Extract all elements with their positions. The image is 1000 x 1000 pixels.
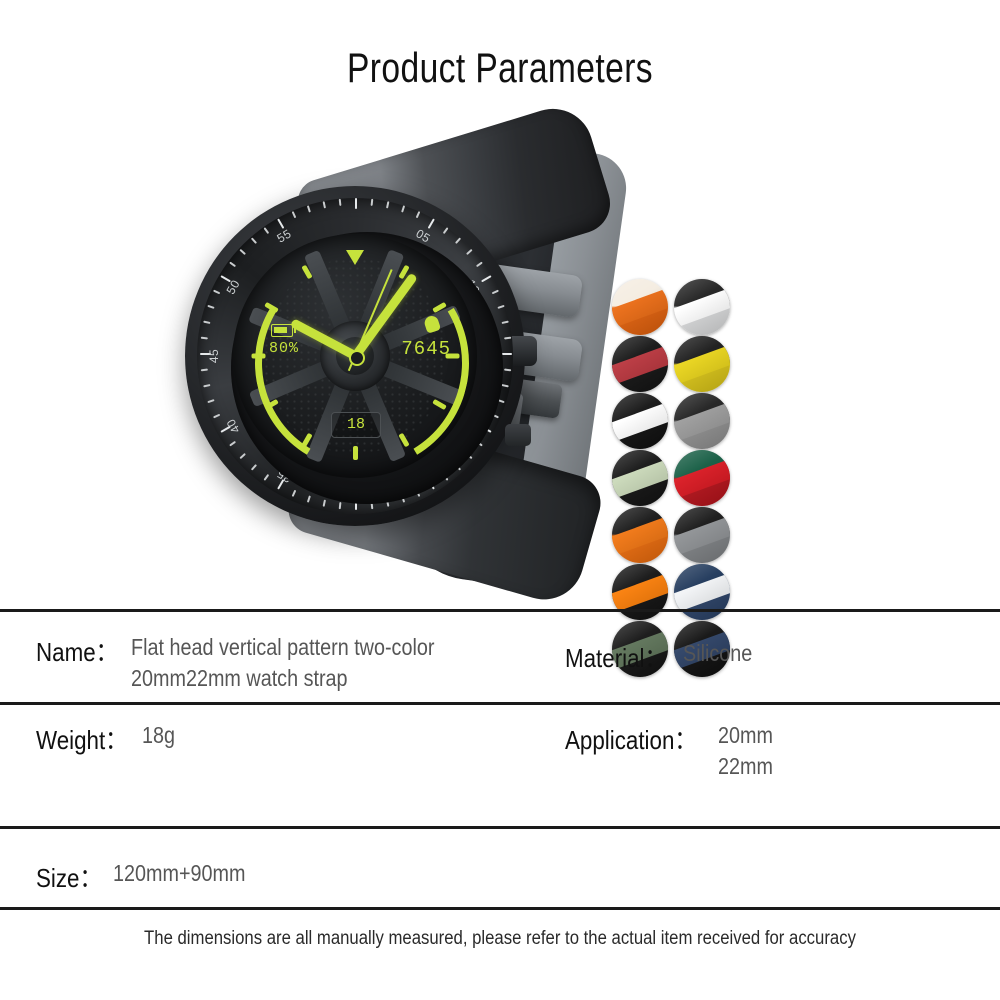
color-swatch-orange-cream[interactable] (612, 279, 668, 335)
swatch-cell[interactable] (674, 506, 736, 563)
spec-value-application-line2: 22mm (718, 751, 773, 782)
color-swatch-white-black[interactable] (674, 279, 730, 335)
spec-value-name: Flat head vertical pattern two-color 20m… (131, 632, 434, 694)
swatch-cell[interactable] (674, 392, 736, 449)
color-swatch-grey-black[interactable] (674, 393, 730, 449)
swatch-cell[interactable] (674, 335, 736, 392)
spec-row-name: Name： Flat head vertical pattern two-col… (36, 632, 484, 694)
swatch-cell[interactable] (674, 449, 736, 506)
page-title: Product Parameters (100, 44, 900, 92)
date-complication: 18 (331, 412, 381, 438)
battery-percent-text: 80% (269, 340, 299, 357)
color-swatch-grey-black-2[interactable] (674, 507, 730, 563)
spec-label-application: Application： (565, 720, 697, 757)
color-swatch-orange-black[interactable] (612, 507, 668, 563)
watch-case: 0510152025303540455055 80% 7645 (185, 186, 525, 526)
bezel-numeral: 45 (207, 349, 221, 363)
spec-row-size: Size： 120mm+90mm (36, 858, 267, 895)
spec-label-name: Name： (36, 632, 118, 669)
dial-top-marker-triangle (346, 250, 364, 265)
watch-dial: 80% 7645 18 (233, 234, 477, 478)
spec-value-name-line2: 20mm22mm watch strap (131, 663, 434, 694)
spec-value-application-line1: 20mm (718, 722, 773, 748)
spec-value-size: 120mm+90mm (113, 858, 245, 889)
table-divider (0, 609, 1000, 612)
color-swatch-green-red[interactable] (674, 450, 730, 506)
table-divider (0, 702, 1000, 705)
spec-label-material: Material： (565, 638, 667, 675)
product-parameters-page: Product Parameters 051015202530354045505… (0, 0, 1000, 1000)
color-swatch-grid[interactable] (612, 278, 736, 677)
smartwatch-with-strap: 0510152025303540455055 80% 7645 (185, 140, 585, 570)
swatch-cell[interactable] (612, 392, 674, 449)
color-swatch-red-black[interactable] (612, 336, 668, 392)
step-count-text: 7645 (401, 338, 451, 360)
spec-row-application: Application： 20mm 22mm (565, 720, 782, 782)
swatch-cell[interactable] (674, 278, 736, 335)
spec-label-weight: Weight： (36, 720, 128, 757)
spec-row-weight: Weight： 18g (36, 720, 181, 757)
color-swatch-sage-black[interactable] (612, 450, 668, 506)
product-image-area: 0510152025303540455055 80% 7645 (0, 130, 1000, 585)
watch-pusher-button (505, 424, 531, 446)
spec-value-material: Silicone (683, 638, 752, 669)
table-divider (0, 907, 1000, 910)
swatch-cell[interactable] (612, 335, 674, 392)
spec-label-size: Size： (36, 858, 102, 895)
spec-value-application: 20mm 22mm (718, 720, 773, 782)
color-swatch-white-black-2[interactable] (612, 393, 668, 449)
swatch-cell[interactable] (612, 449, 674, 506)
hands-center-pin (349, 350, 365, 366)
spec-value-name-line1: Flat head vertical pattern two-color (131, 634, 434, 660)
color-swatch-yellow-black[interactable] (674, 336, 730, 392)
swatch-cell[interactable] (612, 506, 674, 563)
swatch-cell[interactable] (612, 278, 674, 335)
table-divider (0, 826, 1000, 829)
disclaimer-note: The dimensions are all manually measured… (60, 928, 940, 950)
battery-icon (271, 324, 293, 337)
spec-row-material: Material： Silicone (565, 638, 764, 675)
spec-value-weight: 18g (142, 720, 175, 751)
